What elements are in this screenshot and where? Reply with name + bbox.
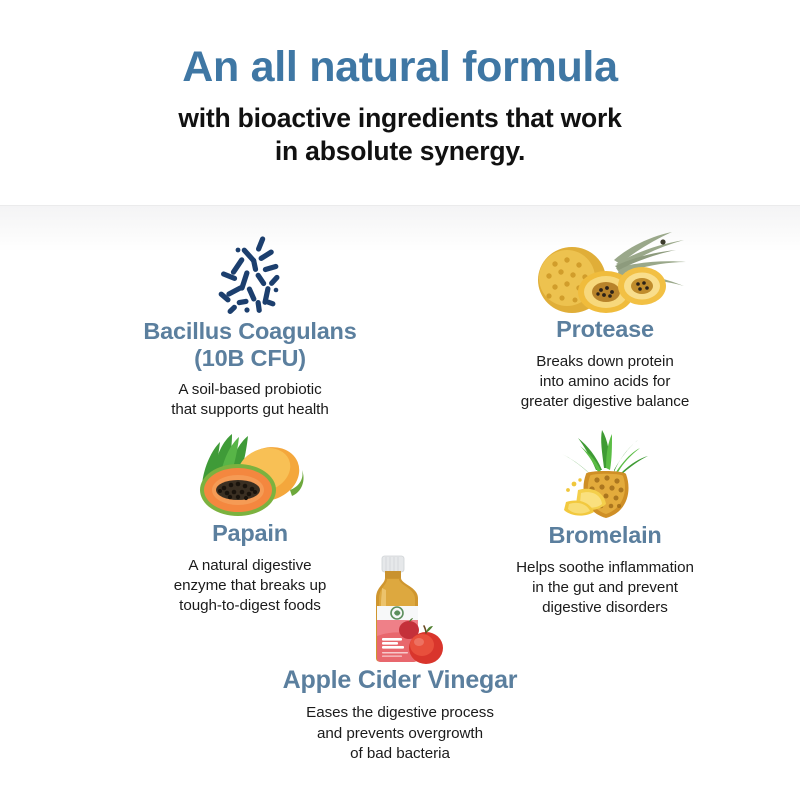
- pineapple-papaya-slices-icon: [520, 230, 690, 316]
- ingredient-card-bacillus-coagulans: Bacillus Coagulans (10B CFU) A soil-base…: [90, 230, 410, 421]
- ingredient-name: Bromelain: [548, 522, 661, 549]
- page-subtitle: with bioactive ingredients that work in …: [178, 102, 621, 167]
- ingredient-description: A soil-based probiotic that supports gut…: [171, 380, 329, 421]
- ingredient-name: Bacillus Coagulans: [143, 318, 356, 345]
- ingredient-name: Papain: [212, 520, 288, 547]
- description-line: and prevents overgrowth: [306, 724, 494, 744]
- description-line: A soil-based probiotic: [171, 380, 329, 400]
- ingredient-description: Breaks down protein into amino acids for…: [521, 352, 689, 413]
- ingredient-description: Eases the digestive process and prevents…: [306, 703, 494, 764]
- description-line: into amino acids for: [521, 372, 689, 392]
- description-line: Breaks down protein: [521, 352, 689, 372]
- ingredient-name: Apple Cider Vinegar: [283, 666, 518, 694]
- bacteria-cluster-icon: [202, 230, 298, 318]
- ingredient-name: Protease: [556, 316, 654, 343]
- ingredient-grid: Bacillus Coagulans (10B CFU) A soil-base…: [0, 206, 800, 800]
- subtitle-line-2: in absolute synergy.: [275, 136, 525, 166]
- subtitle-line-1: with bioactive ingredients that work: [178, 103, 621, 133]
- page-title: An all natural formula: [182, 44, 617, 90]
- pineapple-icon: [544, 428, 666, 522]
- ingredient-subname: (10B CFU): [194, 345, 306, 372]
- description-line: Eases the digestive process: [306, 703, 494, 723]
- vinegar-bottle-apple-icon: [352, 554, 448, 666]
- description-line: of bad bacteria: [306, 744, 494, 764]
- description-line: greater digestive balance: [521, 392, 689, 412]
- ingredient-card-apple-cider-vinegar: Apple Cider Vinegar Eases the digestive …: [255, 554, 545, 764]
- description-line: that supports gut health: [171, 400, 329, 420]
- papaya-icon: [184, 428, 316, 520]
- header-section: An all natural formula with bioactive in…: [0, 0, 800, 205]
- infographic-page: An all natural formula with bioactive in…: [0, 0, 800, 800]
- ingredient-card-protease: Protease Breaks down protein into amino …: [465, 230, 745, 413]
